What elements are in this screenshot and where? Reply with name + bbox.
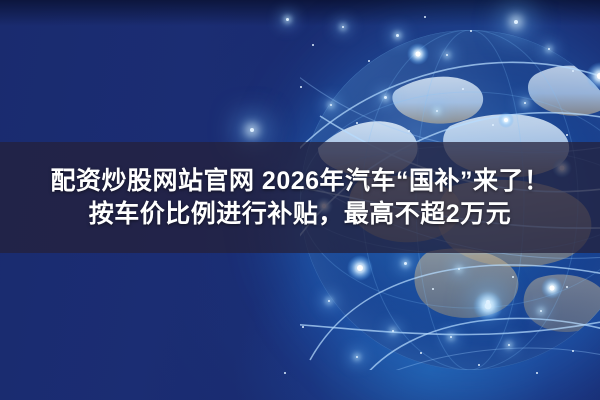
star-particle [342,26,344,28]
news-banner-image: 配资炒股网站官网 2026年汽车“国补”来了！ 按车价比例进行补贴，最高不超2万… [0,0,600,400]
star-particle [512,276,514,278]
star-particle [458,268,460,270]
star-particle [424,16,426,18]
star-particle [508,344,510,346]
star-particle [470,30,472,32]
star-particle [478,364,480,366]
headline-text-block: 配资炒股网站官网 2026年汽车“国补”来了！ 按车价比例进行补贴，最高不超2万… [0,142,600,253]
star-particle [486,300,490,304]
star-particle [492,124,494,126]
star-particle [514,20,518,24]
star-particle [446,54,448,56]
star-particle [432,288,434,290]
star-particle [572,70,574,72]
star-particle [368,60,370,62]
star-particle [566,134,568,136]
star-particle [536,372,538,374]
star-particle [284,372,286,374]
star-particle [286,18,289,21]
star-particle [392,330,394,332]
star-particle [404,262,407,265]
star-particle [312,44,314,46]
star-particle [300,86,302,88]
headline-line-2: 按车价比例进行补贴，最高不超2万元 [89,201,511,228]
star-particle [356,122,358,124]
star-particle [420,352,422,354]
star-particle [524,102,526,104]
star-particle [356,356,358,358]
star-particle [408,130,410,132]
headline-line-1: 配资炒股网站官网 2026年汽车“国补”来了！ [50,168,549,195]
star-particle [540,310,542,312]
star-particle [450,336,452,338]
star-particle [572,350,574,352]
star-particle [566,286,568,288]
star-particle [384,96,387,99]
star-particle [302,326,304,328]
star-particle [436,110,438,112]
star-particle [548,48,550,50]
star-particle [328,300,330,302]
star-particle [396,34,399,37]
star-particle [330,104,332,106]
star-particle [462,88,464,90]
star-particle [250,128,254,132]
